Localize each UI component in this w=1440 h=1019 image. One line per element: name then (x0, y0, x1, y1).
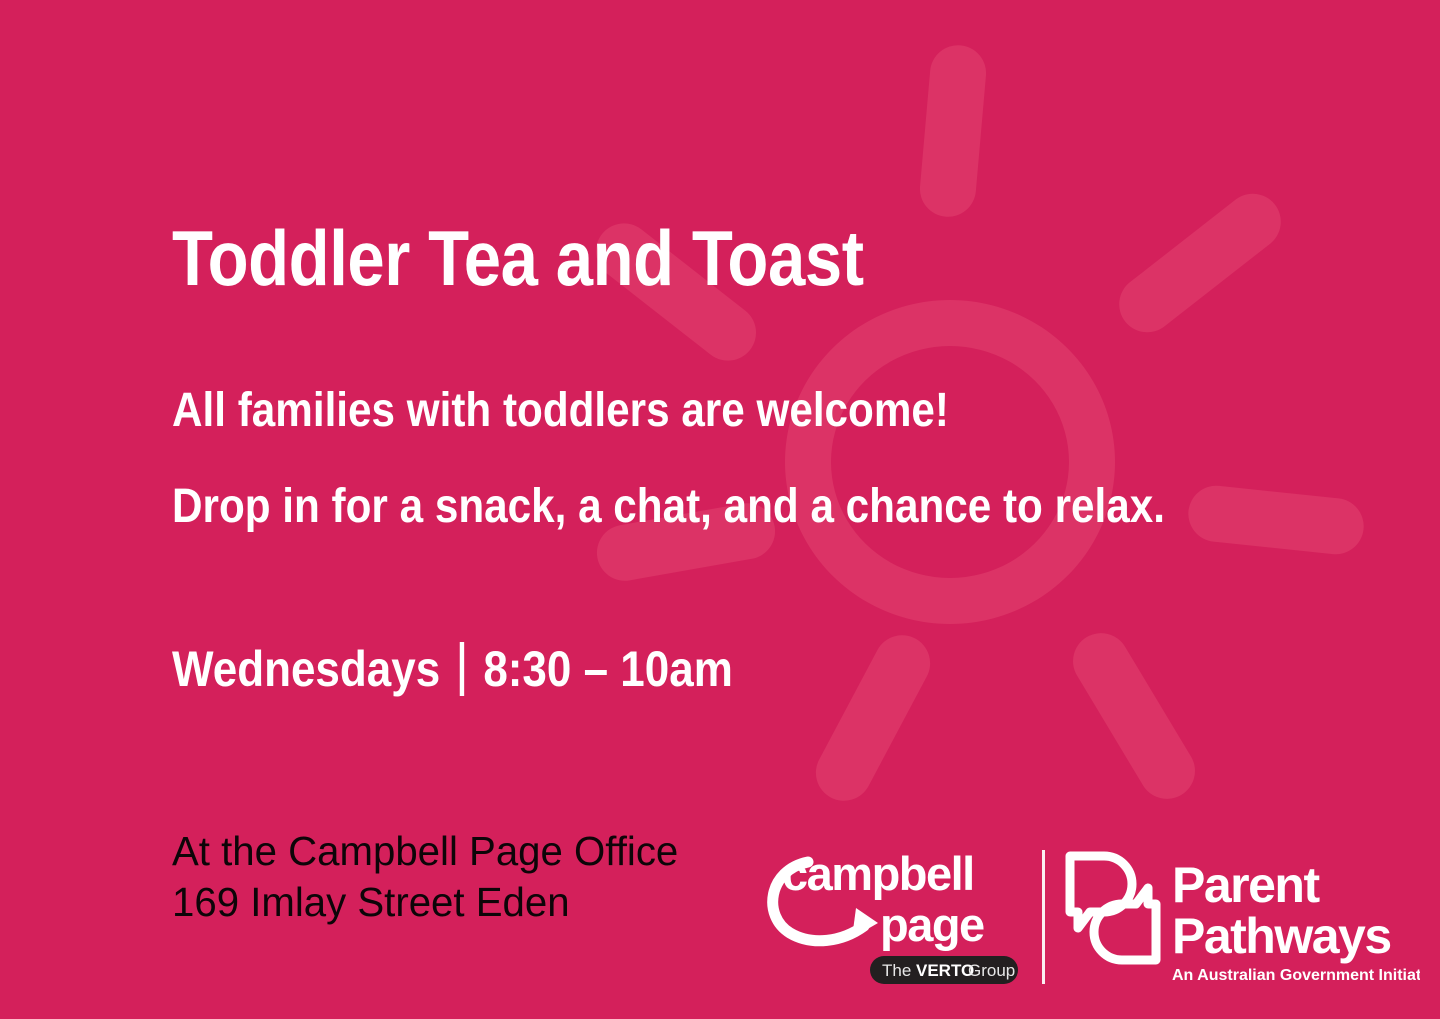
location-block: At the Campbell Page Office 169 Imlay St… (172, 826, 678, 928)
logo-divider (1042, 850, 1045, 984)
schedule-separator (460, 642, 464, 696)
verto-group-brand: VERTO (916, 961, 974, 980)
campbell-page-line1: campbell (782, 847, 974, 900)
schedule-day: Wednesdays (172, 638, 440, 700)
description-text: Drop in for a snack, a chat, and a chanc… (172, 474, 1228, 540)
parent-pathways-tagline: An Australian Government Initiative (1172, 967, 1420, 984)
parent-pathways-line2: Pathways (1172, 908, 1391, 964)
verto-group-group: Group (968, 961, 1015, 980)
verto-group-the: The (882, 961, 911, 980)
page-title: Toddler Tea and Toast (172, 216, 864, 300)
schedule-time: 8:30 – 10am (483, 638, 733, 700)
campbell-page-line2: page (880, 898, 984, 951)
location-line-1: At the Campbell Page Office (172, 826, 678, 877)
parent-pathways-line1: Parent (1172, 857, 1320, 913)
poster-canvas: Toddler Tea and Toast All families with … (0, 0, 1440, 1019)
logo-lockup: campbell page The VERTO Group Parent Pat… (760, 838, 1420, 998)
lead-text: All families with toddlers are welcome! (172, 380, 1254, 442)
swoosh-arrowhead-icon (852, 908, 878, 938)
parent-pathways-logo: Parent Pathways An Australian Government… (1060, 846, 1420, 992)
schedule-line: Wednesdays 8:30 – 10am (172, 638, 733, 700)
location-line-2: 169 Imlay Street Eden (172, 877, 678, 928)
campbell-page-logo: campbell page The VERTO Group (760, 838, 1025, 988)
